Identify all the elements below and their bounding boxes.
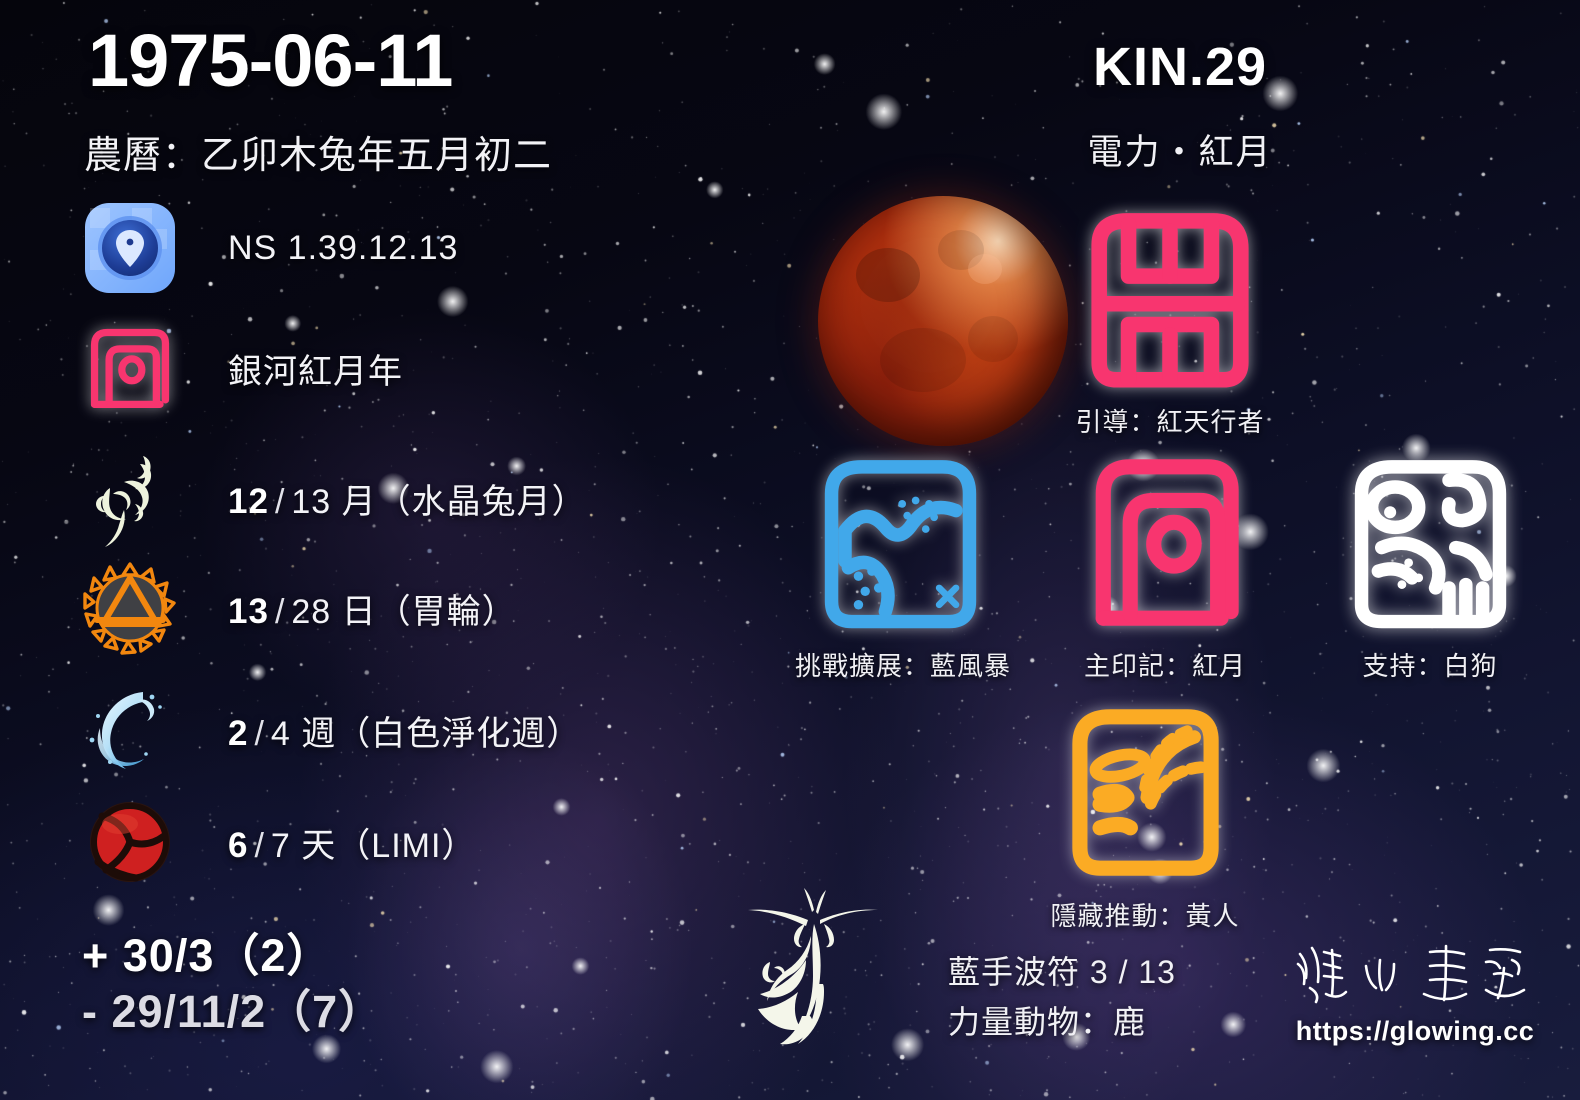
wavespell-text: 藍手波符 3 / 13: [948, 948, 1176, 998]
week-name: 週（白色淨化週）: [301, 715, 581, 753]
row-year-glyph: 銀河紅月年: [80, 318, 740, 418]
month-total: 13: [291, 483, 331, 521]
glyph-block-support: 支持：白狗: [1325, 440, 1535, 683]
week-text: 2/4 週（白色淨化週）: [228, 706, 581, 755]
main-label: 主印記：紅月: [1060, 646, 1270, 683]
plasma-current: 6: [228, 826, 248, 865]
power-animal-text: 力量動物：鹿: [948, 998, 1176, 1048]
white-dog-glyph-icon: [1338, 440, 1523, 640]
glyph-block-main: 主印記：紅月: [1060, 440, 1270, 683]
day-separator: /: [269, 593, 291, 631]
day-name: 日（胃輪）: [342, 593, 517, 631]
lunar-calendar-text: 農曆：乙卯木兔年五月初二: [84, 124, 552, 179]
month-separator: /: [269, 483, 291, 521]
footer-minus-count: - 29/11/2（7）: [82, 984, 384, 1040]
yellow-human-glyph-icon: [1053, 690, 1238, 890]
blood-moon-image: [818, 196, 1068, 446]
power-animal-deer-illustration: [712, 876, 912, 1076]
hidden-label: 隱藏推動：黃人: [1040, 896, 1250, 933]
page-title-date: 1975-06-11: [88, 24, 452, 98]
red-moon-year-glyph-icon: [80, 318, 180, 418]
week-current: 2: [228, 714, 248, 753]
solar-plexus-chakra-icon: [80, 558, 180, 658]
plasma-separator: /: [248, 827, 270, 865]
row-day: 13/28 日（胃輪）: [80, 558, 740, 658]
footer-plus-count: + 30/3（2）: [82, 928, 384, 984]
row-month: 12/13 月（水晶兔月）: [80, 448, 740, 548]
glyph-block-challenge: 挑戰擴展：藍風暴: [795, 440, 1005, 683]
day-text: 13/28 日（胃輪）: [228, 584, 517, 633]
plasma-dragon-icon: [80, 448, 180, 548]
brand-signature: [1290, 938, 1540, 1008]
kin-subtitle: 電力・紅月: [1020, 124, 1340, 175]
row-week: 2/4 週（白色淨化週）: [80, 680, 740, 780]
year-glyph-text: 銀河紅月年: [228, 344, 403, 393]
ns-locator-app-icon: [80, 198, 180, 298]
plasma-total: 7: [271, 827, 291, 865]
red-moon-glyph-icon: [1073, 440, 1258, 640]
week-separator: /: [248, 715, 270, 753]
month-name: 月（水晶兔月）: [342, 483, 587, 521]
footer-left-counts: + 30/3（2） - 29/11/2（7）: [82, 928, 384, 1041]
month-current: 12: [228, 482, 269, 521]
red-skywalker-glyph-icon: [1075, 196, 1265, 396]
guide-label: 引導：紅天行者: [1075, 402, 1265, 439]
water-moon-icon: [80, 680, 180, 780]
plasma-name: 天（LIMI）: [301, 827, 476, 865]
row-plasma-day: 6/7 天（LIMI）: [80, 792, 740, 892]
plasma-day-text: 6/7 天（LIMI）: [228, 818, 476, 867]
row-ns-date: NS 1.39.12.13: [80, 198, 740, 298]
challenge-label: 挑戰擴展：藍風暴: [795, 646, 1005, 683]
glyph-block-hidden: 隱藏推動：黃人: [1040, 690, 1250, 933]
left-column: 1975-06-11 農曆：乙卯木兔年五月初二: [0, 0, 740, 1100]
glyph-block-guide: 引導：紅天行者: [1075, 196, 1265, 439]
ns-date-text: NS 1.39.12.13: [228, 229, 458, 268]
day-current: 13: [228, 592, 269, 631]
support-label: 支持：白狗: [1325, 646, 1535, 683]
brand-url: https://glowing.cc: [1280, 1016, 1550, 1047]
blue-storm-glyph-icon: [808, 440, 993, 640]
day-total: 28: [291, 593, 331, 631]
red-sphere-icon: [80, 792, 180, 892]
month-text: 12/13 月（水晶兔月）: [228, 474, 587, 523]
kin-number: KIN.29: [1040, 36, 1320, 98]
week-total: 4: [271, 715, 291, 753]
poster-canvas: 1975-06-11 農曆：乙卯木兔年五月初二: [0, 0, 1580, 1100]
bottom-info: 藍手波符 3 / 13 力量動物：鹿: [948, 948, 1176, 1047]
